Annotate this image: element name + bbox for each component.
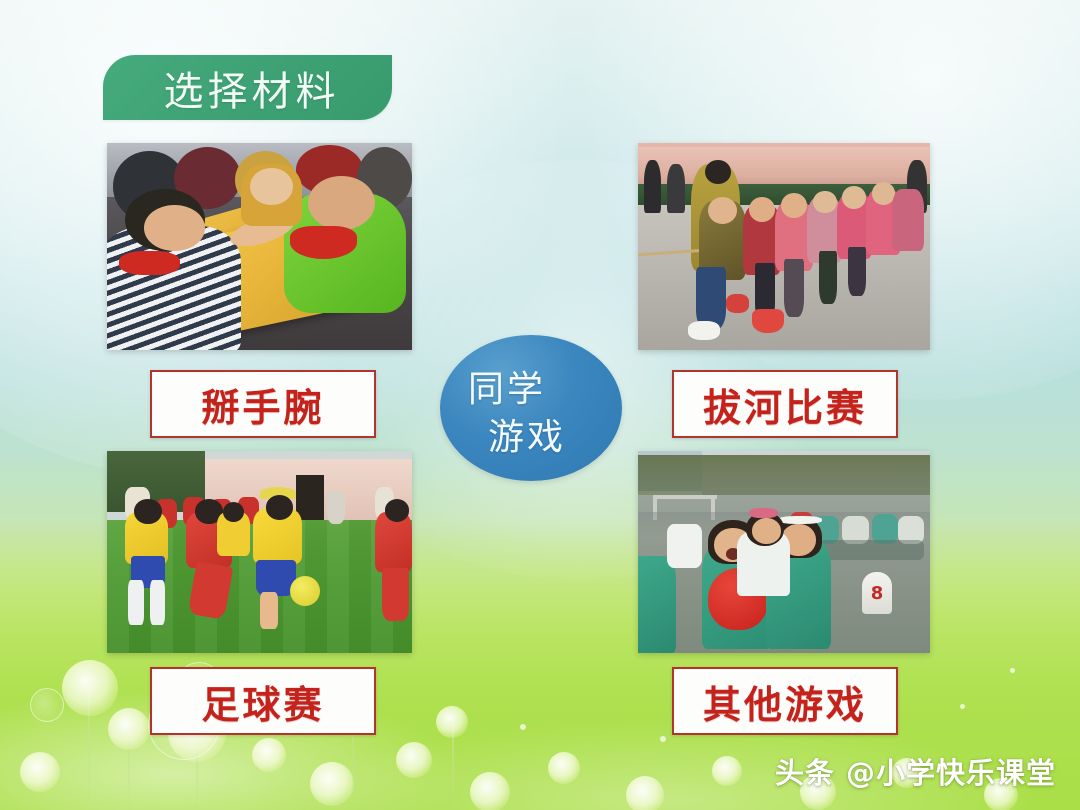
label-tug-of-war: 拔河比赛: [672, 370, 898, 438]
dandelion-puff: [108, 708, 150, 750]
slide-canvas: 选择材料: [0, 0, 1080, 810]
dandelion-puff: [548, 752, 580, 784]
dandelion-puff: [626, 776, 664, 810]
dandelion-puff: [310, 762, 354, 806]
sparkle-dot: [1010, 668, 1015, 673]
title-banner-text: 选择材料: [156, 59, 340, 117]
center-badge-line2: 游戏: [488, 408, 566, 460]
label-soccer-match-text: 足球赛: [201, 674, 324, 729]
center-badge: 同学 游戏: [440, 335, 622, 481]
dandelion-puff: [62, 660, 118, 716]
label-arm-wrestling: 掰手腕: [150, 370, 376, 438]
dandelion-puff: [712, 756, 742, 786]
sparkle-dot: [660, 736, 666, 742]
dandelion-puff: [436, 706, 468, 738]
cone-marker: 8: [862, 572, 892, 614]
photo-soccer-match: [107, 451, 412, 653]
dandelion-stem: [88, 690, 90, 800]
dandelion-puff: [396, 742, 432, 778]
sparkle-dot: [960, 704, 965, 709]
photo-arm-wrestling: [107, 143, 412, 350]
dandelion-stem: [196, 735, 198, 810]
photo-other-games: 8: [638, 451, 930, 653]
label-soccer-match: 足球赛: [150, 667, 376, 735]
dandelion-puff: [470, 772, 510, 810]
sparkle-dot: [520, 724, 526, 730]
cone-number: 8: [871, 583, 884, 604]
dandelion-puff: [20, 752, 60, 792]
dandelion-stem: [128, 730, 130, 810]
label-other-games: 其他游戏: [672, 667, 898, 735]
center-badge-line1: 同学: [468, 360, 546, 412]
title-banner: 选择材料: [103, 55, 392, 120]
photo-tug-of-war: [638, 143, 930, 350]
watermark: 头条 @小学快乐课堂: [775, 750, 1056, 792]
label-tug-of-war-text: 拔河比赛: [703, 377, 867, 432]
dandelion-stem: [452, 724, 454, 806]
dandelion-puff: [252, 738, 286, 772]
bokeh-circle: [30, 688, 64, 722]
label-other-games-text: 其他游戏: [703, 674, 867, 729]
label-arm-wrestling-text: 掰手腕: [201, 377, 324, 432]
